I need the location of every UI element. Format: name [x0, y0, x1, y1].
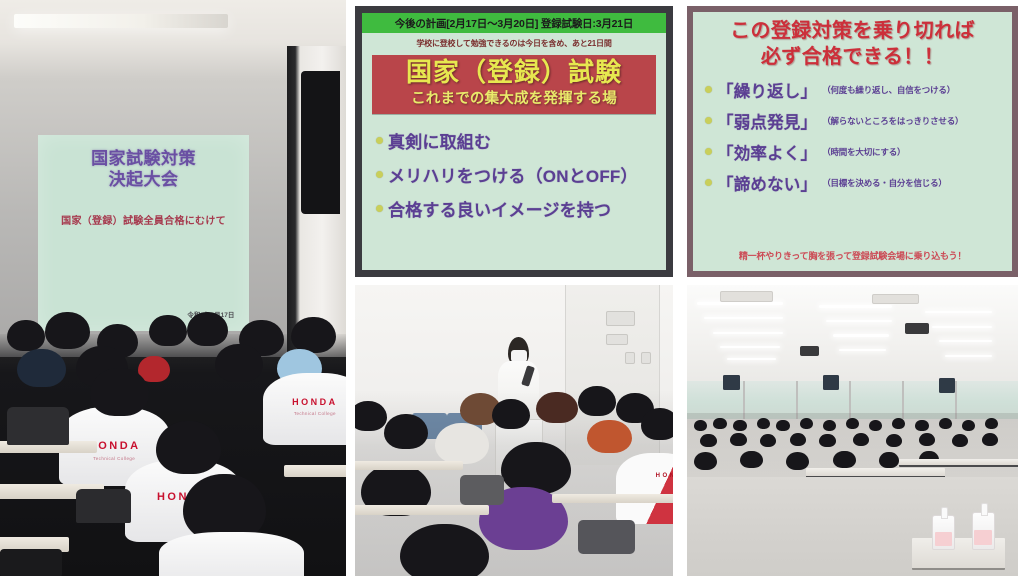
- attendee-head: [892, 418, 905, 429]
- audience-head: [355, 401, 387, 431]
- ceiling-light-strip: [14, 14, 229, 28]
- attendee-head: [800, 418, 813, 429]
- plan-bullet-item: メリハリをつける（ONとOFF）: [376, 162, 666, 187]
- ac-vent: [872, 294, 918, 304]
- hall-photo: [687, 285, 1018, 576]
- audience-shoulders: [159, 532, 304, 576]
- attendee-head: [713, 418, 726, 429]
- ceiling-light: [932, 326, 992, 328]
- bullet-dot-icon: [705, 117, 712, 124]
- desk: [355, 461, 463, 470]
- bottle-label: [974, 530, 992, 545]
- motivation-item: 「効率よく」 （時間を大切にする）: [705, 140, 1012, 164]
- attendee-head: [757, 418, 770, 429]
- motivation-item-note: （目標を決める・自分を信じる）: [822, 177, 947, 189]
- bullet-dot-icon: [705, 86, 712, 93]
- motivation-title-line2: 必ず合格できる！！: [693, 45, 1012, 71]
- long-desk: [899, 459, 1018, 467]
- ceiling-light: [704, 317, 783, 319]
- honda-logo-subtext: Technical College: [263, 411, 346, 416]
- motivation-title-line1: この登録対策を乗り切れば: [693, 12, 1012, 45]
- slide-frame: この登録対策を乗り切れば 必ず合格できる！！ 「繰り返し」 （何度も繰り返し、自…: [687, 6, 1018, 277]
- left-audience-crowd: HONDA Technical College HONDA Technical …: [0, 334, 346, 576]
- kickoff-slide-title-line1: 国家試験対策: [48, 149, 238, 170]
- attendee-head: [786, 452, 809, 470]
- attendee-head: [730, 433, 747, 446]
- attendee-head: [823, 420, 836, 431]
- plan-slide-note: 学校に登校して勉強できるのは今日を含め、あと21日間: [362, 33, 666, 53]
- attendee-head: [700, 434, 717, 447]
- attendee-head: [760, 434, 777, 447]
- attendee-head: [776, 420, 789, 431]
- plan-slide-photo: 今後の計画[2月17日～3月20日] 登録試験日:3月21日 学校に登校して勉強…: [355, 6, 673, 277]
- plan-bullet-label: 合格する良いイメージを持つ: [388, 196, 611, 221]
- plan-bullet-item: 真剣に取組む: [376, 128, 666, 153]
- motivation-item: 「弱点発見」 （解らないところをはっきりさせる）: [705, 109, 1012, 133]
- plan-slide-surface: 今後の計画[2月17日～3月20日] 登録試験日:3月21日 学校に登校して勉強…: [362, 13, 666, 270]
- attendee-head: [833, 451, 856, 469]
- plan-bullet-label: メリハリをつける（ONとOFF）: [388, 162, 638, 187]
- audience-head: [578, 386, 616, 416]
- motivation-footer: 精一杯やりきって胸を張って登録試験会場に乗り込もう！: [693, 249, 1012, 262]
- ceiling-light: [697, 302, 783, 304]
- attendee-head: [694, 452, 717, 470]
- bottle-label: [935, 532, 953, 546]
- projector: [800, 346, 820, 356]
- plan-bullet-item: 合格する良いイメージを持つ: [376, 196, 666, 221]
- wall-monitor: [723, 375, 740, 390]
- kickoff-slide-subtitle: 国家（登録）試験全員合格にむけて: [48, 212, 238, 227]
- attendee-head: [915, 420, 928, 431]
- audience-head: [17, 349, 65, 388]
- plan-slide-header: 今後の計画[2月17日～3月20日] 登録試験日:3月21日: [362, 13, 666, 33]
- ceiling-light: [727, 358, 777, 360]
- desk: [284, 465, 346, 477]
- speaker-photo: HONDA: [355, 285, 673, 576]
- attendee-head: [846, 418, 859, 429]
- wall-panel: [606, 334, 628, 344]
- audience-head: [501, 442, 571, 494]
- attendee-head: [886, 434, 903, 447]
- wall-panel: [606, 311, 635, 326]
- motivation-item-note: （解らないところをはっきりさせる）: [822, 115, 963, 127]
- wall-monitor: [823, 375, 840, 390]
- audience-head: [384, 414, 429, 449]
- ceiling-light: [839, 349, 885, 351]
- honda-logo-text: HONDA: [616, 473, 673, 479]
- attendee-head: [952, 434, 969, 447]
- audience-head: [587, 420, 632, 454]
- plan-redbox-subtitle: これまでの集大成を発揮する場: [374, 87, 654, 108]
- projector: [905, 323, 928, 335]
- wall-switch: [641, 352, 651, 364]
- plan-redbox-title: 国家（登録）試験: [374, 59, 654, 86]
- audience-head: [291, 317, 336, 353]
- honda-jacket: HONDA Technical College: [263, 373, 346, 446]
- plan-bullet-label: 真剣に取組む: [388, 128, 491, 153]
- wall-column: [287, 46, 346, 357]
- attendee-head: [790, 433, 807, 446]
- projection-screen-kickoff: 国家試験対策 決起大会 国家（登録）試験全員合格にむけて 令和3年2月17日: [38, 135, 249, 331]
- photo-collage: 国家試験対策 決起大会 国家（登録）試験全員合格にむけて 令和3年2月17日 H…: [0, 0, 1024, 576]
- motivation-item: 「諦めない」 （目標を決める・自分を信じる）: [705, 171, 1012, 195]
- audience-head: [45, 312, 90, 348]
- audience-head: [156, 421, 222, 474]
- wall-monitor: [939, 378, 956, 393]
- attendee-head: [985, 418, 998, 429]
- ceiling-light: [826, 320, 892, 322]
- left-lecture-room-photo: 国家試験対策 決起大会 国家（登録）試験全員合格にむけて 令和3年2月17日 H…: [0, 0, 346, 576]
- bullet-dot-icon: [705, 179, 712, 186]
- plan-bullet-list: 真剣に取組む メリハリをつける（ONとOFF） 合格する良いイメージを持つ: [376, 128, 666, 221]
- attendee-head: [733, 420, 746, 431]
- wall-switch: [625, 352, 635, 364]
- motivation-item-list: 「繰り返し」 （何度も繰り返し、自信をつける） 「弱点発見」 （解らないところを…: [705, 78, 1012, 195]
- audience-head: [215, 344, 263, 383]
- honda-jacket: HONDA: [616, 453, 673, 524]
- attendee-head: [939, 418, 952, 429]
- motivation-item-key: 「効率よく」: [717, 140, 817, 164]
- audience-head: [187, 312, 229, 346]
- motivation-item-note: （時間を大切にする）: [822, 146, 905, 158]
- audience-head: [7, 320, 45, 351]
- attendee-head: [879, 452, 899, 468]
- ac-vent: [720, 291, 773, 303]
- motivation-item-key: 「繰り返し」: [717, 78, 817, 102]
- audience-head: [149, 315, 187, 346]
- attendee-head: [819, 434, 836, 447]
- slide-frame: 今後の計画[2月17日～3月20日] 登録試験日:3月21日 学校に登校して勉強…: [355, 6, 673, 277]
- audience-head: [400, 524, 489, 576]
- chair: [578, 520, 635, 554]
- attendee-head: [869, 420, 882, 431]
- chair: [460, 475, 505, 505]
- chair: [0, 549, 62, 576]
- attendee-head: [919, 433, 936, 446]
- motivation-item-note: （何度も繰り返し、自信をつける）: [822, 84, 955, 96]
- kickoff-slide-title-line2: 決起大会: [48, 170, 238, 191]
- chair: [7, 407, 69, 446]
- motivation-item-key: 「弱点発見」: [717, 109, 817, 133]
- ceiling-light: [713, 332, 783, 334]
- audience-crowd: HONDA: [355, 390, 673, 576]
- bullet-dot-icon: [376, 205, 383, 212]
- audience-head: [641, 408, 673, 440]
- motivation-slide-surface: この登録対策を乗り切れば 必ず合格できる！！ 「繰り返し」 （何度も繰り返し、自…: [693, 12, 1012, 271]
- honda-logo-subtext: Technical College: [59, 456, 170, 461]
- desk: [355, 505, 489, 514]
- bullet-dot-icon: [705, 148, 712, 155]
- bullet-dot-icon: [376, 171, 383, 178]
- motivation-slide-photo: この登録対策を乗り切れば 必ず合格できる！！ 「繰り返し」 （何度も繰り返し、自…: [687, 6, 1018, 277]
- bullet-dot-icon: [376, 137, 383, 144]
- ceiling-light: [819, 305, 892, 307]
- motivation-item-key: 「諦めない」: [717, 171, 817, 195]
- ceiling-light: [720, 346, 780, 348]
- audience-head: [90, 368, 149, 416]
- sanitizer-bottle: [932, 515, 955, 550]
- attendee-head: [694, 420, 707, 431]
- audience-head: [492, 399, 530, 429]
- plan-slide-redbox: 国家（登録）試験 これまでの集大成を発揮する場: [372, 55, 656, 114]
- audience-head: [536, 392, 577, 424]
- audience-hood: [435, 423, 489, 464]
- chair: [76, 489, 131, 523]
- motivation-item: 「繰り返し」 （何度も繰り返し、自信をつける）: [705, 78, 1012, 102]
- honda-logo-text: HONDA: [263, 397, 346, 407]
- sanitizer-bottle: [972, 512, 995, 550]
- attendee-head: [982, 433, 999, 446]
- attendee-head: [740, 451, 763, 469]
- desk: [552, 494, 673, 503]
- attendee-head: [962, 420, 975, 431]
- attendee-head: [853, 433, 870, 446]
- ceiling-light: [833, 334, 889, 336]
- ceiling-light: [945, 355, 991, 357]
